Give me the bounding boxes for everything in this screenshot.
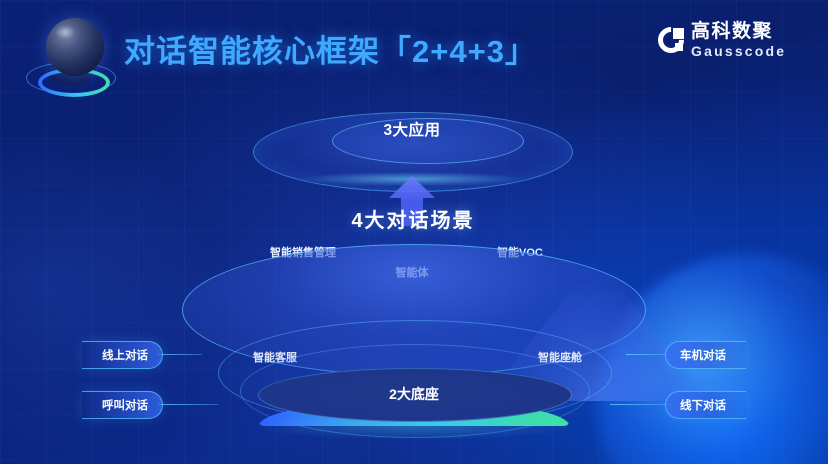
page-title: 对话智能核心框架「2+4+3」 [124, 26, 537, 71]
pill-online-chat[interactable]: 线上对话 [82, 341, 163, 369]
logo-square-bottom [675, 43, 683, 51]
pill-call-chat[interactable]: 呼叫对话 [82, 391, 163, 419]
connector-offline-chat [610, 404, 670, 405]
brand-name-en: Gausscode [691, 44, 786, 58]
gausscode-g-mark-icon [658, 27, 684, 53]
pill-offline-chat[interactable]: 线下对话 [665, 391, 746, 419]
connector-online-chat [158, 354, 202, 355]
slide-header: 对话智能核心框架「2+4+3」 高科数聚 Gausscode [0, 0, 828, 104]
logo-square-top [673, 28, 684, 39]
slide-canvas: 对话智能核心框架「2+4+3」 高科数聚 Gausscode 3大应用 智能销售… [0, 0, 828, 464]
orb-sphere [46, 18, 104, 76]
base-layer-title: 2大底座 [258, 384, 570, 404]
sphere-orb-icon [22, 16, 118, 100]
connector-incar-chat [626, 354, 670, 355]
scene-layer-title: 4大对话场景 [182, 204, 644, 233]
connector-call-chat [158, 404, 218, 405]
framework-diagram: 3大应用 智能销售管理 智能VOC 智能体 4大对话场景 智能客服 智能座舱 智… [0, 96, 828, 464]
brand-name-cn: 高科数聚 [691, 22, 786, 41]
application-layer-title: 3大应用 [253, 118, 571, 140]
orb-highlight [55, 25, 75, 39]
brand-logo: 高科数聚 Gausscode [658, 14, 810, 66]
brand-text: 高科数聚 Gausscode [691, 22, 786, 58]
pill-incar-chat[interactable]: 车机对话 [665, 341, 746, 369]
